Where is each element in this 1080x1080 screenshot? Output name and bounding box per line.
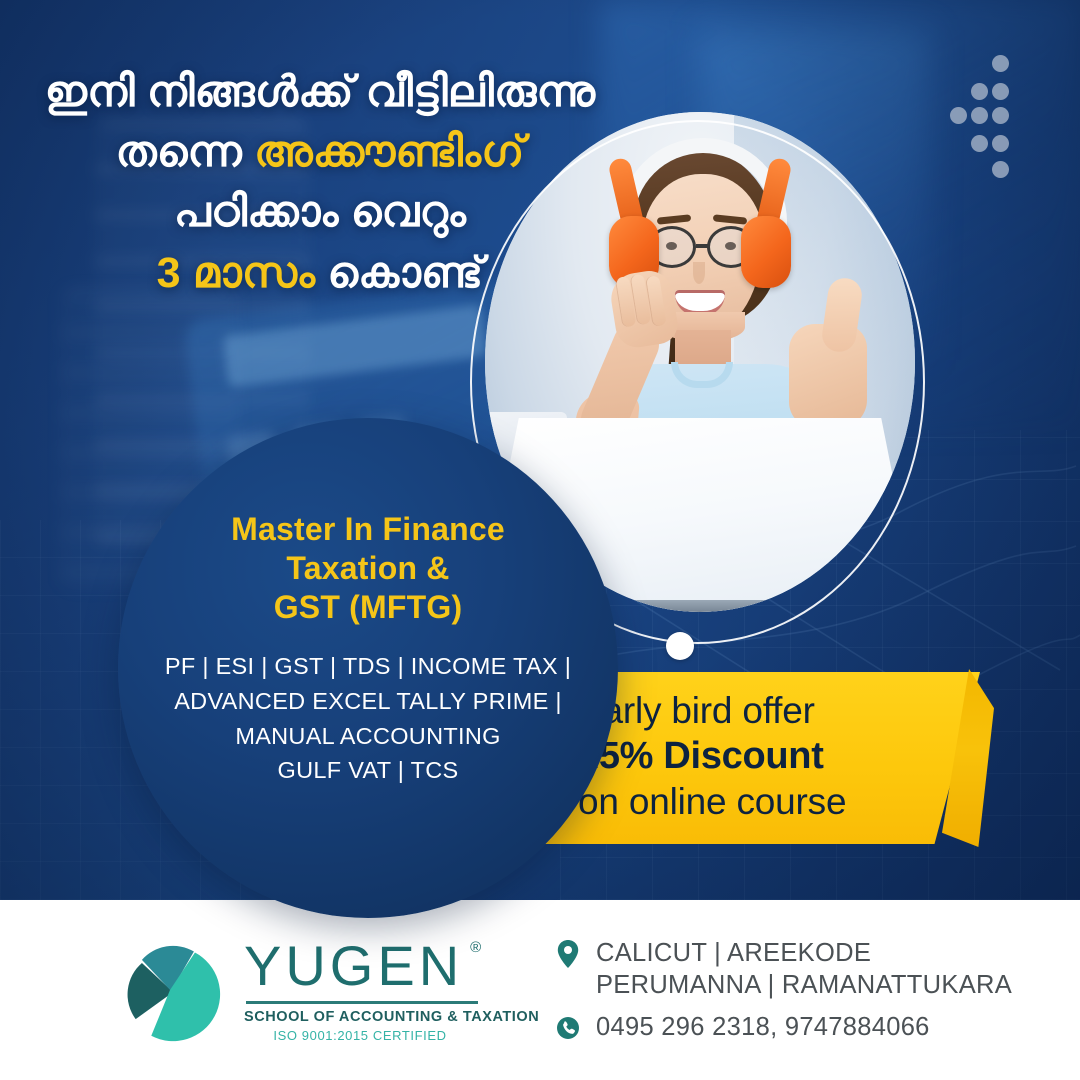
headline-line-2-plain: തന്നെ (116, 128, 255, 176)
decorative-dots-pattern (950, 55, 1040, 205)
contact-phone-row[interactable]: 0495 296 2318, 9747884066 (555, 1011, 1012, 1043)
brand-tagline: SCHOOL OF ACCOUNTING & TAXATION (244, 1009, 476, 1025)
promotional-poster: ഇനി നിങ്ങൾക്ക് വീട്ടിലിരുന്നു തന്നെ അക്ക… (0, 0, 1080, 1080)
course-subjects-line-1: PF | ESI | GST | TDS | INCOME TAX | (144, 649, 592, 684)
portrait-ring-dot (666, 632, 694, 660)
course-title-line-1: Master In Finance (144, 510, 592, 549)
course-subjects-line-4: GULF VAT | TCS (144, 753, 592, 788)
contact-locations-row: CALICUT | AREEKODE PERUMANNA | RAMANATTU… (555, 937, 1012, 1001)
yugen-logo-icon (118, 938, 222, 1042)
contact-info: CALICUT | AREEKODE PERUMANNA | RAMANATTU… (555, 937, 1012, 1043)
offer-banner-text: Early bird offer 25% Discount on online … (578, 688, 968, 825)
brand-name-text: YUGEN (244, 934, 463, 997)
headline-line-2-highlight: അക്കൗണ്ടിംഗ് (254, 128, 524, 176)
headline-line-2: തന്നെ അക്കൗണ്ടിംഗ് (0, 122, 640, 182)
offer-line-1: Early bird offer (578, 688, 968, 733)
headline-line-4-plain: കൊണ്ട് (315, 249, 483, 297)
brand-logo: YUGEN® SCHOOL OF ACCOUNTING & TAXATION I… (118, 938, 478, 1043)
brand-wordmark: YUGEN® SCHOOL OF ACCOUNTING & TAXATION I… (244, 938, 478, 1043)
course-subjects: PF | ESI | GST | TDS | INCOME TAX | ADVA… (144, 649, 592, 788)
locations-line-2: PERUMANNA | RAMANATTUKARA (596, 969, 1012, 1001)
course-subjects-line-3: MANUAL ACCOUNTING (144, 719, 592, 754)
headline-line-4: 3 മാസം കൊണ്ട് (0, 243, 640, 303)
logo-divider-rule (246, 1001, 478, 1004)
course-info-content: Master In Finance Taxation & GST (MFTG) … (118, 510, 618, 788)
offer-line-3: on online course (578, 779, 968, 824)
course-subjects-line-2: ADVANCED EXCEL TALLY PRIME | (144, 684, 592, 719)
locations-line-1: CALICUT | AREEKODE (596, 939, 871, 967)
course-title-line-2: Taxation & (144, 549, 592, 588)
phone-text: 0495 296 2318, 9747884066 (596, 1011, 930, 1043)
course-title: Master In Finance Taxation & GST (MFTG) (144, 510, 592, 627)
location-text: CALICUT | AREEKODE PERUMANNA | RAMANATTU… (596, 937, 1012, 1001)
headline-line-1: ഇനി നിങ്ങൾക്ക് വീട്ടിലിരുന്നു (0, 62, 640, 122)
registered-trademark-icon: ® (470, 940, 481, 955)
phone-icon (555, 1013, 581, 1043)
headline: ഇനി നിങ്ങൾക്ക് വീട്ടിലിരുന്നു തന്നെ അക്ക… (0, 62, 640, 303)
iso-certification-label: ISO 9001:2015 CERTIFIED (244, 1028, 476, 1043)
headline-line-3: പഠിക്കാം വെറും (0, 182, 640, 242)
headline-line-4-highlight: 3 മാസം (157, 249, 316, 297)
brand-name: YUGEN® (244, 938, 463, 994)
course-info-circle: Master In Finance Taxation & GST (MFTG) … (118, 418, 618, 918)
offer-line-2: 25% Discount (578, 733, 968, 779)
footer: YUGEN® SCHOOL OF ACCOUNTING & TAXATION I… (0, 900, 1080, 1080)
location-pin-icon (555, 939, 581, 969)
course-title-line-3: GST (MFTG) (144, 588, 592, 627)
